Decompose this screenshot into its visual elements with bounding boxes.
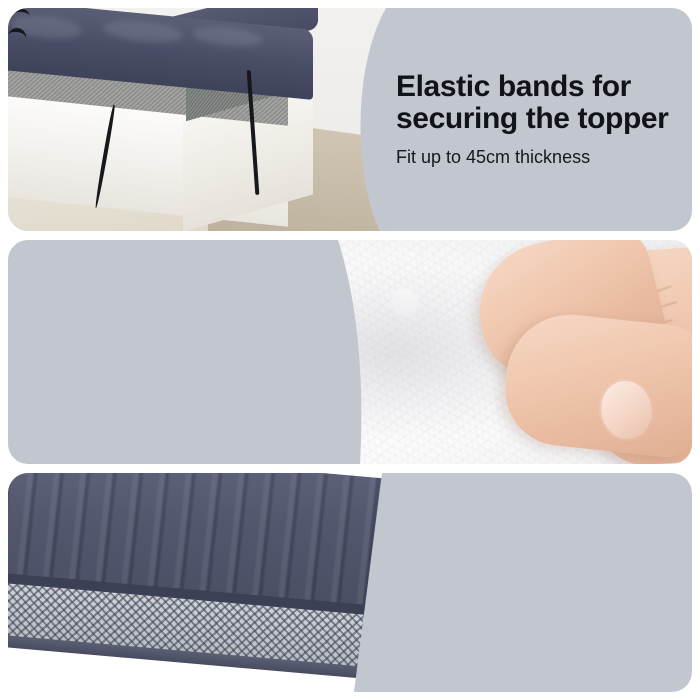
text-card-microfibre <box>8 240 368 464</box>
thumb <box>500 308 692 459</box>
panel-microfibre-filling: Innovative microfibre filing Soft and co… <box>8 240 692 464</box>
elastic-strap-left-loop <box>8 8 31 29</box>
tuft <box>103 18 183 46</box>
tuft <box>193 24 263 49</box>
text-card-ultra-thick <box>338 473 692 692</box>
panel-elastic-bands: Elastic bands for securing the topper Fi… <box>8 8 692 231</box>
product-feature-sheet: Elastic bands for securing the topper Fi… <box>0 0 700 700</box>
hand-pinching-fibre <box>398 244 692 464</box>
text-block-elastic-bands: Elastic bands for securing the topper Fi… <box>396 71 668 169</box>
headline-line-1: Elastic bands for <box>396 71 668 103</box>
panel-ultra-thick: Ultra thick Durable & long-lasting <box>8 473 692 692</box>
fingernail <box>594 375 658 445</box>
headline-line-2: securing the topper <box>396 103 668 135</box>
subline-elastic-bands: Fit up to 45cm thickness <box>396 147 668 169</box>
